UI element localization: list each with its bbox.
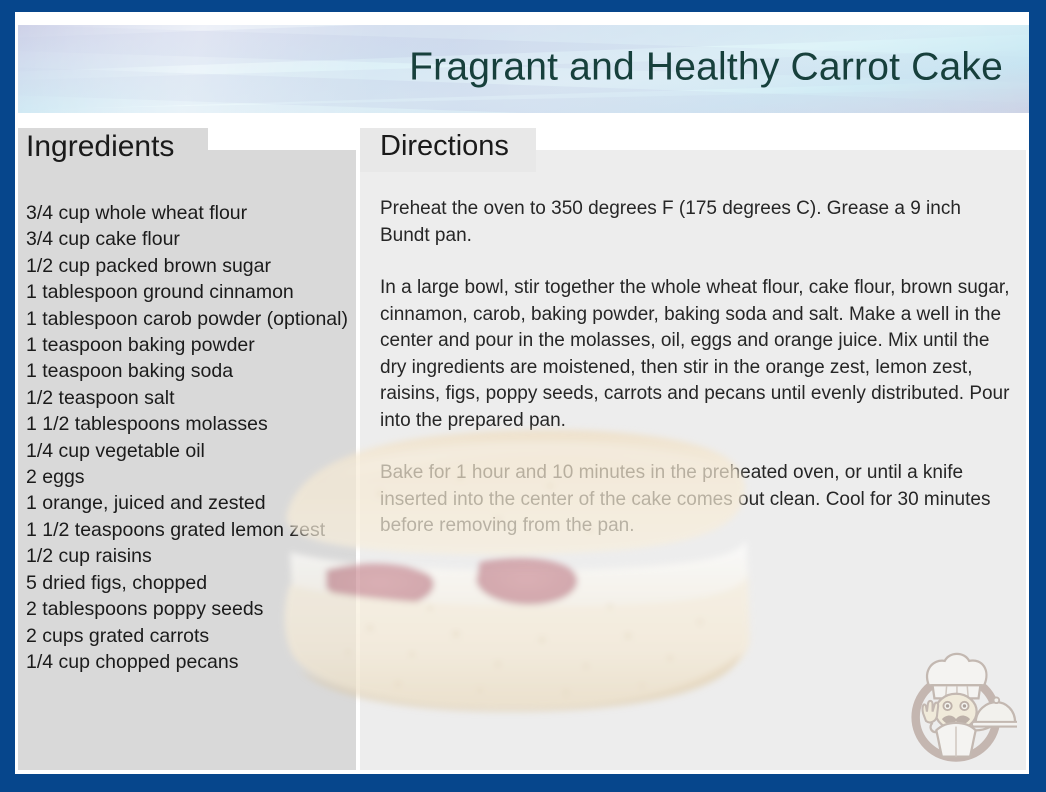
directions-heading-notch xyxy=(536,128,1026,150)
directions-heading: Directions xyxy=(380,130,509,163)
ingredient-item: 1/2 cup raisins xyxy=(26,543,348,569)
page-title: Fragrant and Healthy Carrot Cake xyxy=(409,48,1003,89)
ingredient-item: 1/4 cup chopped pecans xyxy=(26,649,348,675)
ingredient-item: 1 tablespoon ground cinnamon xyxy=(26,279,348,305)
ingredient-item: 1 orange, juiced and zested xyxy=(26,490,348,516)
ingredient-item: 1 teaspoon baking soda xyxy=(26,358,348,384)
ingredients-panel: Ingredients 3/4 cup whole wheat flour3/4… xyxy=(18,128,356,770)
ingredient-item: 1/4 cup vegetable oil xyxy=(26,438,348,464)
ingredient-item: 1/2 teaspoon salt xyxy=(26,385,348,411)
ingredient-item: 1 teaspoon baking powder xyxy=(26,332,348,358)
ingredient-item: 2 eggs xyxy=(26,464,348,490)
ingredients-heading-notch xyxy=(208,128,356,150)
recipe-card-inner: Fragrant and Healthy Carrot Cake Ingredi… xyxy=(15,12,1029,774)
ingredient-item: 1 tablespoon carob powder (optional) xyxy=(26,306,348,332)
ingredient-item: 2 tablespoons poppy seeds xyxy=(26,596,348,622)
ingredient-item: 3/4 cup whole wheat flour xyxy=(26,200,348,226)
direction-paragraph: Preheat the oven to 350 degrees F (175 d… xyxy=(380,196,1010,249)
ingredient-item: 2 cups grated carrots xyxy=(26,623,348,649)
ingredients-list: 3/4 cup whole wheat flour3/4 cup cake fl… xyxy=(26,200,348,675)
direction-paragraph: In a large bowl, stir together the whole… xyxy=(380,275,1010,434)
ingredient-item: 1 1/2 tablespoons molasses xyxy=(26,411,348,437)
ingredient-item: 3/4 cup cake flour xyxy=(26,226,348,252)
direction-paragraph: Bake for 1 hour and 10 minutes in the pr… xyxy=(380,460,1010,540)
ingredients-heading: Ingredients xyxy=(26,130,174,164)
ingredient-item: 5 dried figs, chopped xyxy=(26,570,348,596)
directions-body: Preheat the oven to 350 degrees F (175 d… xyxy=(380,196,1010,540)
directions-panel: Directions Preheat the oven to 350 degre… xyxy=(360,128,1026,770)
header-banner: Fragrant and Healthy Carrot Cake xyxy=(18,25,1029,113)
recipe-card: Fragrant and Healthy Carrot Cake Ingredi… xyxy=(0,0,1046,792)
ingredient-item: 1 1/2 teaspoons grated lemon zest xyxy=(26,517,348,543)
ingredient-item: 1/2 cup packed brown sugar xyxy=(26,253,348,279)
